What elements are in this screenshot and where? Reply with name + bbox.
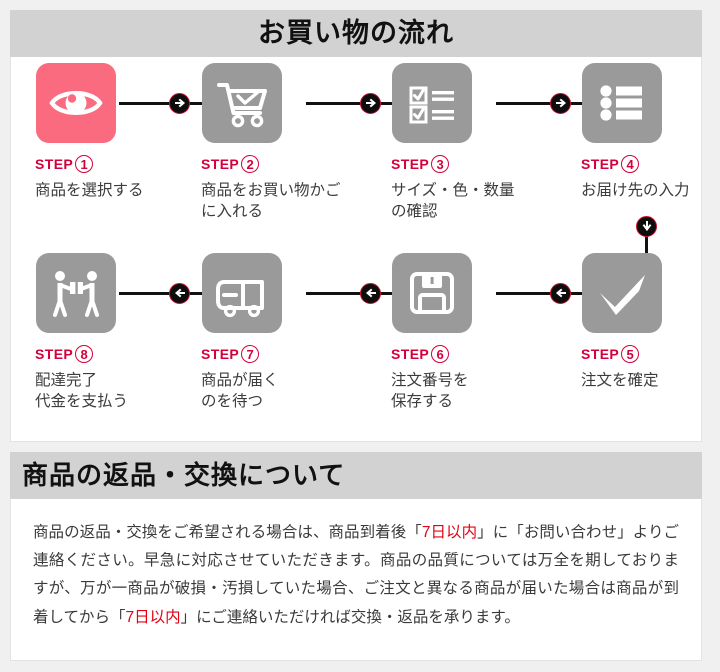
step-word: STEP [391,156,429,172]
connector-arrow-down-4-5 [636,216,657,237]
flow-step-6-label-group: STEP6 注文番号を 保存する [381,345,531,413]
flow-step-1[interactable]: STEP1 商品を選択する [25,63,175,201]
flow-step-2-tag: STEP2 [201,155,341,175]
arrow-down-icon [638,217,656,235]
flow-step-7[interactable]: STEP7 商品が届く のを待つ [191,253,341,413]
flow-step-5-label-group: STEP5 注文を確定 [571,345,720,391]
flow-step-6-tag: STEP6 [391,345,531,365]
policy-paragraph: 商品の返品・交換をご希望される場合は、商品到着後「7日以内」に「お問い合わせ」よ… [33,519,679,632]
page-container: お買い物の流れ [10,10,702,661]
flow-step-5[interactable]: STEP5 注文を確定 [571,253,720,391]
delivery-truck-icon [202,253,282,333]
policy-highlight-1: 7日以内 [422,524,477,541]
shopping-cart-icon [202,63,282,143]
checkmark-icon [582,253,662,333]
flow-step-8-icon-box [36,253,116,333]
policy-section-title: 商品の返品・交換について [10,452,702,499]
flow-step-3[interactable]: STEP3 サイズ・色・数量 の確認 [381,63,531,223]
flow-row-top: STEP1 商品を選択する [11,63,701,243]
flow-step-8[interactable]: STEP8 配達完了 代金を支払う [25,253,175,413]
flow-step-8-label-group: STEP8 配達完了 代金を支払う [25,345,175,413]
package-handover-icon [36,253,116,333]
step-number: 2 [241,155,259,173]
step-number: 8 [75,345,93,363]
step-word: STEP [35,346,73,362]
flow-step-6[interactable]: STEP6 注文番号を 保存する [381,253,531,413]
flow-step-8-text: 配達完了 代金を支払う [35,370,175,413]
floppy-disk-save-icon [392,253,472,333]
flow-step-2-icon-box [202,63,282,143]
arrow-right-icon [552,94,570,112]
step-number: 7 [241,345,259,363]
flow-step-3-label-group: STEP3 サイズ・色・数量 の確認 [381,155,531,223]
flow-step-4-text: お届け先の入力 [581,180,720,201]
step-number: 1 [75,155,93,173]
flow-step-1-text: 商品を選択する [35,180,175,201]
flow-step-5-icon-box [582,253,662,333]
connector-arrow-right-2-3 [360,93,381,114]
step-word: STEP [201,156,239,172]
flow-step-3-icon-box [392,63,472,143]
checklist-icon [392,63,472,143]
flow-step-6-text: 注文番号を 保存する [391,370,531,413]
flow-step-2-label-group: STEP2 商品をお買い物かご に入れる [191,155,341,223]
connector-arrow-left-6-7 [360,283,381,304]
policy-panel: 商品の返品・交換をご希望される場合は、商品到着後「7日以内」に「お問い合わせ」よ… [10,499,702,661]
flow-step-3-text: サイズ・色・数量 の確認 [391,180,531,223]
flow-step-8-tag: STEP8 [35,345,175,365]
flow-diagram-panel: STEP1 商品を選択する [10,57,702,442]
flow-step-3-tag: STEP3 [391,155,531,175]
step-word: STEP [201,346,239,362]
flow-step-4[interactable]: STEP4 お届け先の入力 [571,63,720,201]
policy-text-part-3: 」にご連絡いただければ交換・返品を承ります。 [181,609,520,626]
flow-step-7-text: 商品が届く のを待つ [201,370,341,413]
step-word: STEP [391,346,429,362]
flow-step-1-icon-box [36,63,116,143]
flow-step-4-tag: STEP4 [581,155,720,175]
step-number: 4 [621,155,639,173]
flow-step-2-text: 商品をお買い物かご に入れる [201,180,341,223]
flow-step-7-tag: STEP7 [201,345,341,365]
policy-text-part-1: 商品の返品・交換をご希望される場合は、商品到着後「 [33,524,422,541]
flow-step-6-icon-box [392,253,472,333]
flow-step-4-icon-box [582,63,662,143]
step-number: 6 [431,345,449,363]
flow-step-4-label-group: STEP4 お届け先の入力 [571,155,720,201]
connector-arrow-right-3-4 [550,93,571,114]
step-word: STEP [35,156,73,172]
flow-step-7-label-group: STEP7 商品が届く のを待つ [191,345,341,413]
flow-step-7-icon-box [202,253,282,333]
step-number: 3 [431,155,449,173]
eye-icon [36,63,116,143]
step-word: STEP [581,156,619,172]
flow-step-1-label-group: STEP1 商品を選択する [25,155,175,201]
flow-step-5-text: 注文を確定 [581,370,720,391]
policy-highlight-2: 7日以内 [126,609,181,626]
flow-step-5-tag: STEP5 [581,345,720,365]
flow-section-title: お買い物の流れ [10,10,702,57]
arrow-left-icon [362,284,380,302]
step-number: 5 [621,345,639,363]
flow-step-2[interactable]: STEP2 商品をお買い物かご に入れる [191,63,341,223]
flow-row-bottom: STEP8 配達完了 代金を支払う [11,253,701,433]
bullet-list-icon [582,63,662,143]
step-word: STEP [581,346,619,362]
arrow-left-icon [552,284,570,302]
flow-step-1-tag: STEP1 [35,155,175,175]
connector-arrow-left-5-6 [550,283,571,304]
arrow-right-icon [362,94,380,112]
section-spacer [10,442,702,452]
